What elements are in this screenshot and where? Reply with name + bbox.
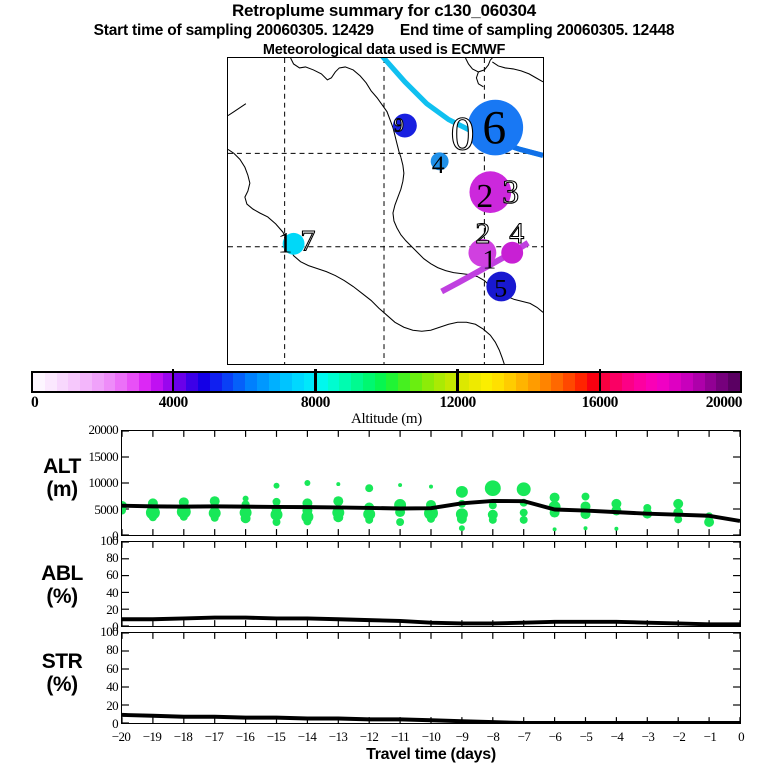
colorbar-cell-32 [410,373,422,391]
colorbar-cell-24 [316,373,328,391]
xtick-label--20: −20 [112,729,130,745]
colorbar-cell-59 [728,373,740,391]
colorbar-cell-37 [469,373,481,391]
colorbar-cell-21 [280,373,292,391]
xtick-label--7: −7 [518,729,530,745]
xtick-label--13: −13 [329,729,347,745]
coastline-ne-fragment [465,58,492,72]
colorbar-cell-33 [422,373,434,391]
colorbar-cell-34 [434,373,446,391]
abl-xtick-marks [122,542,740,626]
colorbar-cell-4 [80,373,92,391]
row-label-abl-line1: ABL [8,562,116,585]
ytick-label-100: 100 [100,533,118,549]
colorbar-cell-52 [646,373,658,391]
xtick-label--14: −14 [298,729,316,745]
coastline-se-fragment [507,296,543,312]
colorbar-cell-54 [669,373,681,391]
marker-numeral-1: 1 [278,227,293,260]
colorbar-cell-27 [351,373,363,391]
colorbar-major-divider [456,369,458,391]
str-xtick-marks [122,633,740,723]
colorbar-tick-0: 0 [31,394,38,412]
colorbar-cell-35 [445,373,457,391]
marker-numeral-4-right: 4 [509,217,524,250]
xtick-label--6: −6 [549,729,561,745]
colorbar-cell-12 [174,373,186,391]
marker-numeral-5: 5 [494,273,507,302]
row-label-str: STR (%) [8,650,116,696]
altitude-colorbar[interactable] [31,371,742,393]
colorbar-cell-51 [634,373,646,391]
marker-numeral-1-lower: 1 [482,245,496,276]
scatter-point [520,509,528,517]
colorbar-tick-4000: 4000 [159,394,188,412]
colorbar-cell-44 [551,373,563,391]
scatter-point [520,516,528,524]
colorbar-cell-17 [233,373,245,391]
scatter-point [459,525,465,531]
colorbar-cell-14 [198,373,210,391]
scatter-point [303,518,311,526]
page-title: Retroplume summary for c130_060304 [0,0,768,21]
colorbar-tick-16000: 16000 [582,394,618,412]
colorbar-cell-10 [151,373,163,391]
colorbar-cell-18 [245,373,257,391]
xtick-label-0: 0 [738,729,744,745]
coastline-nw-fragment [228,104,246,116]
scatter-point [489,516,497,524]
scatter-point [333,496,343,506]
colorbar-cell-57 [705,373,717,391]
marker-numeral-4b: 9 [394,115,404,137]
colorbar-cell-56 [693,373,705,391]
colorbar-major-divider [314,369,316,391]
colorbar-cell-50 [622,373,634,391]
xaxis-tick-labels: −20−19−18−17−16−15−14−13−12−11−10−9−8−7−… [0,729,768,747]
scatter-point [517,482,531,496]
colorbar-cell-49 [610,373,622,391]
scatter-point [336,482,340,486]
scatter-point [614,527,618,531]
coastline-inlet [476,72,483,87]
scatter-point [274,483,280,489]
xaxis-title: Travel time (days) [121,746,741,764]
xtick-label--17: −17 [205,729,223,745]
colorbar-wrap: 040008000120001600020000 Altitude (m) [31,371,742,393]
colorbar-cell-38 [481,373,493,391]
colorbar-cell-53 [657,373,669,391]
colorbar-cell-43 [540,373,552,391]
colorbar-cell-42 [528,373,540,391]
marker-numeral-4: 4 [432,150,445,179]
chart-svg-str [122,633,740,723]
row-label-abl-line2: (%) [8,585,116,608]
xtick-label--8: −8 [487,729,499,745]
scatter-point [553,527,557,531]
end-time-label: End time of sampling 20060305. 12448 [400,22,675,39]
colorbar-cell-31 [398,373,410,391]
start-time-label: Start time of sampling 20060305. 12429 [94,22,374,39]
xtick-label--15: −15 [267,729,285,745]
xtick-label--11: −11 [391,729,409,745]
colorbar-cell-39 [492,373,504,391]
scatter-point [273,518,281,526]
xtick-label--16: −16 [236,729,254,745]
scatter-point [673,499,683,509]
ytick-label-60: 60 [106,567,118,583]
colorbar-cell-15 [210,373,222,391]
sampling-time-row: Start time of sampling 20060305. 12429En… [0,21,768,41]
row-label-abl: ABL (%) [8,562,116,608]
colorbar-cell-0 [33,373,45,391]
scatter-point [582,493,590,501]
colorbar-cell-45 [563,373,575,391]
coastline-ne-arc [492,62,543,82]
colorbar-cell-16 [222,373,234,391]
scatter-point [457,514,467,524]
marker-numeral-6-outline: 0 [451,108,475,160]
colorbar-tick-12000: 12000 [439,394,475,412]
colorbar-axis-title: Altitude (m) [31,411,742,428]
scatter-point [485,480,501,496]
marker-numeral-1-outline: 7 [301,225,316,258]
ytick-label-20: 20 [106,698,118,714]
marker-numeral-6: 6 [482,102,506,154]
scatter-point [241,513,251,523]
scatter-point [180,513,188,521]
scatter-point [333,512,343,522]
colorbar-cell-6 [104,373,116,391]
ytick-label-20000: 20000 [88,422,118,438]
xtick-label--12: −12 [360,729,378,745]
scatter-point [365,484,373,492]
row-label-str-line2: (%) [8,673,116,696]
row-label-str-line1: STR [8,650,116,673]
marker-numeral-2-left: 2 [476,178,493,215]
coastline-west [228,149,504,364]
chart-panel-str[interactable] [121,632,741,724]
colorbar-major-divider [172,369,174,391]
scatter-point [211,514,219,522]
scatter-point [584,526,588,530]
ytick-label-10000: 10000 [88,475,118,491]
ytick-label-100: 100 [100,624,118,640]
scatter-point [429,485,433,489]
colorbar-tick-8000: 8000 [301,394,330,412]
colorbar-cell-3 [68,373,80,391]
xtick-label--10: −10 [422,729,440,745]
colorbar-major-divider [599,369,601,391]
xtick-label--5: −5 [580,729,592,745]
scatter-point [704,517,714,527]
scatter-point [456,486,468,498]
ytick-label-40: 40 [106,679,118,695]
header-block: Retroplume summary for c130_060304 Start… [0,0,768,60]
marker-numeral-3: 3 [502,174,519,211]
colorbar-cell-40 [504,373,516,391]
colorbar-cell-46 [575,373,587,391]
abl-ytick-marks [122,542,740,626]
colorbar-cell-58 [716,373,728,391]
colorbar-cell-41 [516,373,528,391]
colorbar-cell-28 [363,373,375,391]
colorbar-cell-29 [375,373,387,391]
colorbar-cell-9 [139,373,151,391]
ytick-label-40: 40 [106,585,118,601]
chart-svg-alt [122,431,740,535]
chart-panel-alt[interactable] [121,430,741,536]
colorbar-cell-5 [92,373,104,391]
colorbar-cell-55 [681,373,693,391]
scatter-point [398,483,402,487]
colorbar-cell-30 [386,373,398,391]
colorbar-cell-19 [257,373,269,391]
ytick-label-5000: 5000 [94,502,118,518]
str-ytick-marks [122,633,740,723]
colorbar-cell-1 [45,373,57,391]
ytick-label-20: 20 [106,602,118,618]
scatter-point [550,493,560,503]
colorbar-tick-20000: 20000 [706,394,742,412]
map-svg: 1 7 4 9 6 0 2 3 2 1 5 4 [228,58,543,364]
map-panel[interactable]: 1 7 4 9 6 0 2 3 2 1 5 4 [227,57,544,365]
scatter-point [427,515,435,523]
xtick-label--9: −9 [456,729,468,745]
xtick-label--18: −18 [174,729,192,745]
scatter-point [149,513,157,521]
ytick-label-60: 60 [106,661,118,677]
colorbar-cell-7 [115,373,127,391]
chart-svg-abl [122,542,740,626]
colorbar-cell-26 [339,373,351,391]
chart-panel-abl[interactable] [121,541,741,627]
colorbar-cell-36 [457,373,469,391]
scatter-point [304,480,310,486]
colorbar-cell-22 [292,373,304,391]
colorbar-cell-47 [587,373,599,391]
colorbar-cell-2 [57,373,69,391]
xtick-label--4: −4 [611,729,623,745]
xtick-label--1: −1 [704,729,716,745]
ytick-label-80: 80 [106,642,118,658]
colorbar-cell-20 [269,373,281,391]
scatter-point [396,518,404,526]
xtick-label--3: −3 [642,729,654,745]
xtick-label--19: −19 [143,729,161,745]
xtick-label--2: −2 [673,729,685,745]
scatter-point [365,516,373,524]
colorbar-cell-8 [127,373,139,391]
colorbar-cell-25 [328,373,340,391]
ytick-label-15000: 15000 [88,449,118,465]
marker-numeral-labels: 1 7 4 9 6 0 2 3 2 1 5 4 [278,102,525,302]
ytick-label-80: 80 [106,550,118,566]
colorbar-cell-13 [186,373,198,391]
